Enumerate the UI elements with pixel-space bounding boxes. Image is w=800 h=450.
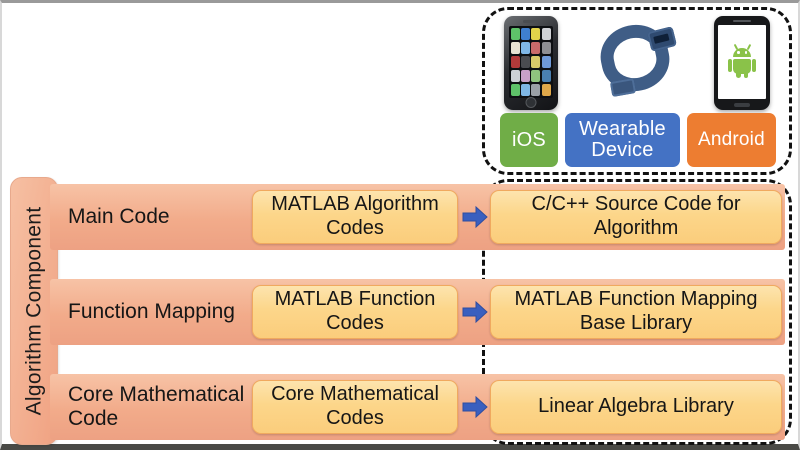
platform-label-row: iOS Wearable Device Android (500, 113, 776, 167)
row-component-label-core-mathematical-code: Core Mathematical Code (68, 374, 268, 440)
android-robot-icon (729, 48, 755, 76)
wearable-band-device-image (593, 21, 679, 105)
row-output-box-function-mapping[interactable]: MATLAB Function Mapping Base Library (490, 285, 782, 339)
device-image-row (486, 11, 788, 115)
table-row: Main Code MATLAB Algorithm Codes C/C++ S… (50, 184, 785, 250)
platform-label-ios[interactable]: iOS (500, 113, 558, 167)
right-arrow-icon (462, 394, 488, 420)
row-component-label-function-mapping: Function Mapping (68, 279, 268, 345)
row-source-box-main-code[interactable]: MATLAB Algorithm Codes (252, 190, 458, 244)
row-source-box-core-mathematical-code[interactable]: Core Mathematical Codes (252, 380, 458, 434)
right-arrow-icon (462, 204, 488, 230)
row-output-box-core-mathematical-code[interactable]: Linear Algebra Library (490, 380, 782, 434)
row-source-box-function-mapping[interactable]: MATLAB Function Codes (252, 285, 458, 339)
band-clasp (610, 78, 636, 97)
right-arrow-icon (462, 299, 488, 325)
iphone-device-image (504, 16, 558, 110)
row-component-label-main-code: Main Code (68, 184, 268, 250)
android-screen (718, 25, 766, 99)
ios-home-screen-grid (509, 26, 553, 98)
platform-label-wearable-device[interactable]: Wearable Device (565, 113, 680, 167)
diagram-canvas: iOS Wearable Device Android Algorithm Co… (0, 0, 800, 450)
android-phone-device-image (714, 16, 770, 110)
platform-label-android[interactable]: Android (687, 113, 776, 167)
table-row: Function Mapping MATLAB Function Codes M… (50, 279, 785, 345)
table-row: Core Mathematical Code Core Mathematical… (50, 374, 785, 440)
row-output-box-main-code[interactable]: C/C++ Source Code for Algorithm (490, 190, 782, 244)
algorithm-component-label: Algorithm Component (22, 207, 46, 416)
